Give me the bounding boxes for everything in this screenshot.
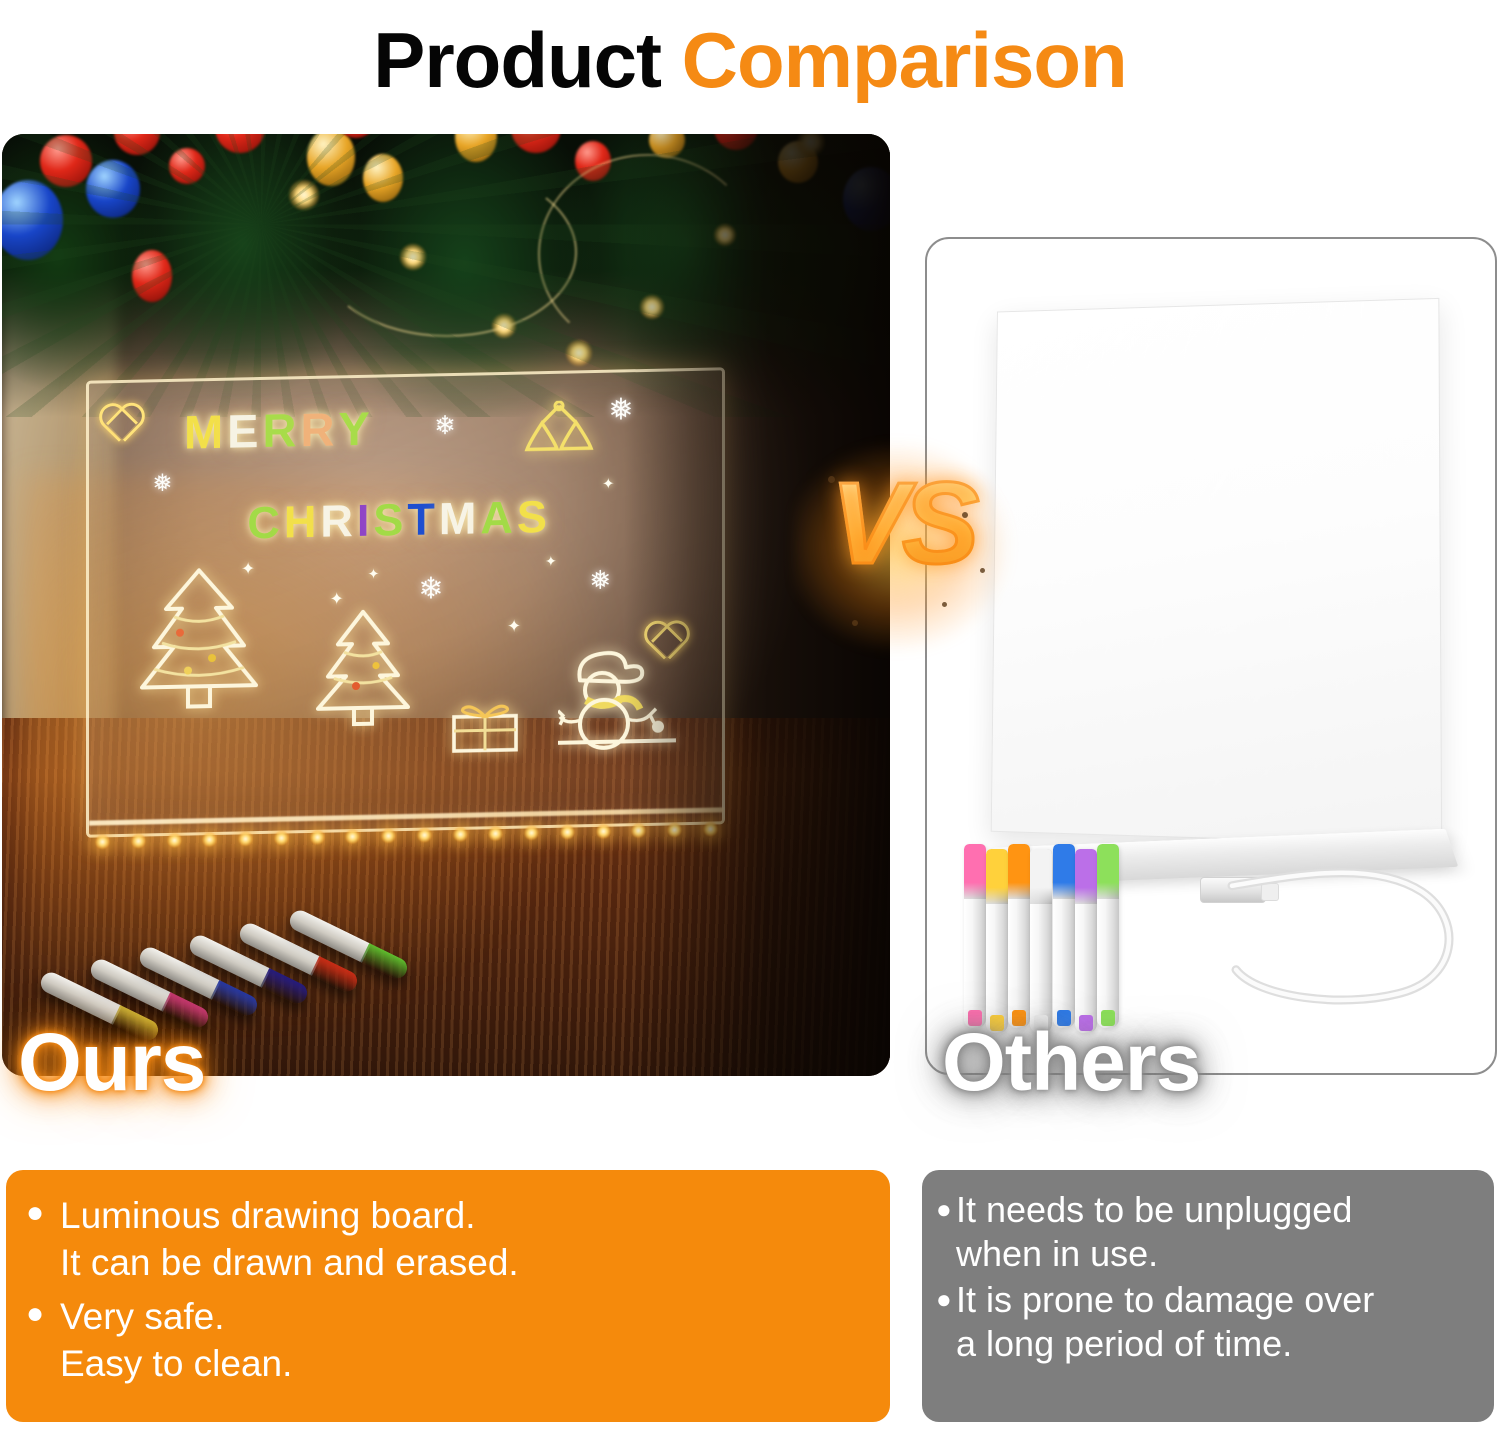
led-light-icon (95, 833, 110, 848)
marker (1008, 844, 1030, 1028)
heart-icon (108, 405, 150, 444)
star-icon: ✦ (368, 567, 380, 581)
title-comparison-word: Comparison (682, 16, 1127, 104)
marker (1053, 844, 1075, 1028)
bullet-dot-icon: ● (936, 1188, 956, 1222)
led-light-icon (381, 827, 396, 842)
ornament-icon (114, 134, 160, 155)
bullet-item: ●Luminous drawing board.It can be drawn … (26, 1192, 890, 1287)
ornament-icon (363, 154, 403, 202)
spark-icon (942, 602, 947, 607)
board-letter: R (263, 402, 298, 458)
board-letter: R (321, 496, 355, 549)
ornament-icon (307, 134, 355, 186)
vs-badge: VS (812, 452, 992, 642)
board-letter: E (228, 403, 260, 459)
led-light-icon (453, 826, 468, 841)
bullet-item: ●It needs to be unpluggedwhen in use. (936, 1188, 1494, 1276)
fairy-light-icon (566, 340, 592, 366)
board-letter: A (481, 492, 515, 545)
marker (964, 844, 986, 1028)
snowflake-icon: ❅ (590, 567, 612, 593)
others-bullet-list: ●It needs to be unpluggedwhen in use.●It… (922, 1170, 1494, 1366)
bullet-item: ●It is prone to damage overa long period… (936, 1278, 1494, 1366)
board-letter: C (248, 497, 282, 550)
product-comparison-page: Product Comparison (0, 0, 1500, 1440)
bullet-text: Very safe.Easy to clean. (60, 1293, 292, 1388)
spark-icon (828, 476, 835, 483)
ornament-icon (335, 134, 377, 138)
marker (1075, 849, 1097, 1033)
snowflake-icon: ❅ (153, 472, 173, 496)
others-drawbacks-box: ●It needs to be unpluggedwhen in use.●It… (922, 1170, 1494, 1422)
board-letter: M (439, 493, 478, 546)
gift-box-icon (450, 699, 520, 752)
ornament-icon (511, 134, 561, 153)
snowflake-icon: ❄ (419, 575, 444, 606)
snowflake-icon: ❄ (435, 412, 457, 438)
bullet-text: It is prone to damage overa long period … (956, 1278, 1374, 1366)
star-icon: ✦ (602, 477, 615, 492)
fairy-light-icon (492, 314, 516, 338)
led-light-icon (417, 827, 432, 842)
spark-icon (962, 512, 968, 518)
ornament-icon (86, 160, 140, 218)
ornament-icon (455, 134, 497, 162)
ours-bullet-list: ●Luminous drawing board.It can be drawn … (6, 1170, 890, 1387)
led-light-icon (238, 830, 253, 845)
bullet-text: Luminous drawing board.It can be drawn a… (60, 1192, 519, 1287)
board-letter: T (408, 494, 437, 547)
spark-icon (852, 620, 858, 626)
ornament-icon (215, 134, 265, 153)
board-letter: S (517, 491, 548, 544)
led-light-icon (596, 823, 611, 838)
bells-icon (520, 400, 598, 460)
ornament-icon (40, 135, 92, 187)
ours-features-box: ●Luminous drawing board.It can be drawn … (6, 1170, 890, 1422)
ours-product-photo: MERRY CHRISTMAS ❄ ❅ ❅ ❄ ❅ ✦ ✦ ✦ ✦ ✦ ✦ (2, 134, 890, 1076)
led-light-icon (345, 828, 360, 843)
led-light-icon (488, 825, 503, 840)
led-light-icon (560, 824, 575, 839)
bullet-item: ●Very safe.Easy to clean. (26, 1293, 890, 1388)
led-light-icon (167, 832, 182, 847)
led-light-icon (202, 831, 217, 846)
spark-icon (980, 568, 985, 573)
others-product-photo (925, 237, 1497, 1075)
led-light-icon (524, 824, 539, 839)
star-icon: ✦ (330, 590, 344, 607)
marker (1030, 849, 1052, 1033)
bullet-text: It needs to be unpluggedwhen in use. (956, 1188, 1352, 1276)
christmas-scene: MERRY CHRISTMAS ❄ ❅ ❅ ❄ ❅ ✦ ✦ ✦ ✦ ✦ ✦ (2, 134, 890, 1076)
bullet-dot-icon: ● (936, 1278, 956, 1312)
fairy-light-wire (317, 167, 577, 337)
page-title: Product Comparison (0, 0, 1500, 120)
board-word-merry: MERRY (184, 400, 371, 459)
board-letter: R (301, 401, 336, 457)
christmas-tree-icon (298, 607, 428, 728)
vs-label: VS (812, 456, 992, 590)
ornament-icon (575, 141, 611, 181)
ornament-icon (2, 180, 63, 260)
board-letter: M (184, 404, 224, 460)
marker (986, 849, 1008, 1033)
fairy-light-icon (289, 180, 319, 210)
led-light-icon (274, 829, 289, 844)
board-letter: S (374, 494, 405, 547)
ours-label: Ours (18, 1022, 205, 1104)
board-word-christmas: CHRISTMAS (248, 491, 549, 549)
led-light-icon (310, 829, 325, 844)
board-letter: Y (339, 400, 371, 456)
board-letter: I (357, 495, 371, 547)
star-icon: ✦ (507, 618, 521, 635)
board-letter: H (284, 496, 318, 549)
plain-white-board (990, 298, 1441, 846)
fairy-light-icon (400, 244, 426, 270)
bullet-dot-icon: ● (26, 1293, 60, 1329)
title-product-word: Product (373, 16, 681, 104)
marker (1097, 844, 1119, 1028)
ornament-icon (132, 250, 172, 302)
christmas-tree-icon (115, 565, 285, 714)
ornament-icon (169, 148, 205, 184)
bullet-dot-icon: ● (26, 1192, 60, 1228)
star-icon: ✦ (545, 554, 557, 568)
usb-cable-icon (1222, 856, 1472, 1039)
led-light-icon (131, 832, 146, 847)
others-label: Others (942, 1022, 1200, 1104)
